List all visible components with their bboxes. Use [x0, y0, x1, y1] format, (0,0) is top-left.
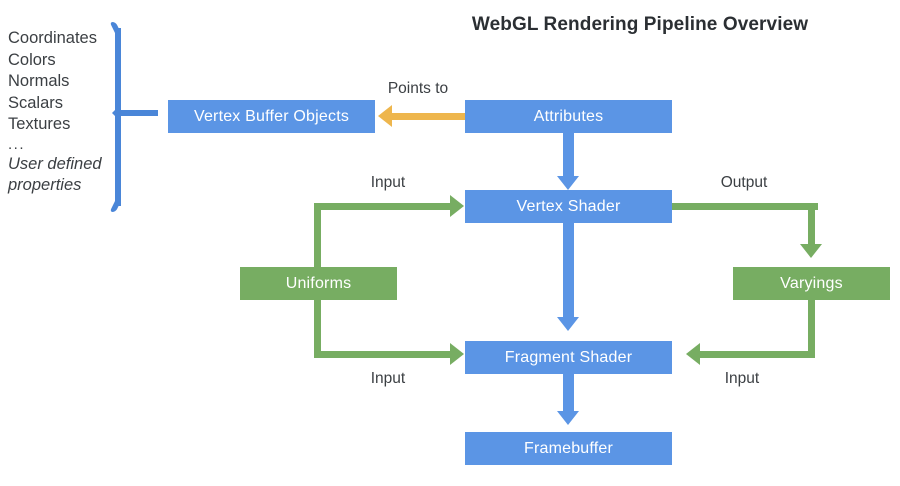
node-label-fragment-shader: Fragment Shader: [505, 349, 633, 367]
node-framebuffer[interactable]: Framebuffer: [465, 432, 672, 465]
edge-label-uniforms-to-vertex-shader-input: Input: [338, 174, 438, 192]
edge-label-points-to: Points to: [368, 80, 468, 98]
legend-bracket: [112, 22, 126, 212]
node-label-uniforms: Uniforms: [286, 275, 352, 293]
node-label-varyings: Varyings: [780, 275, 843, 293]
edge-uniforms-to-fragment-shader-horizontal: [314, 351, 451, 358]
legend-line-ellipsis: ...: [8, 136, 120, 154]
edge-uniforms-to-vertex-shader-vertical: [314, 203, 321, 268]
node-attributes[interactable]: Attributes: [465, 100, 672, 133]
bracket-tab: [116, 110, 158, 116]
edge-uniforms-to-vertex-shader-horizontal: [314, 203, 451, 210]
legend-line-colors: Colors: [8, 50, 120, 72]
edge-varyings-to-fragment-shader-horizontal: [700, 351, 815, 358]
node-label-vertex-shader: Vertex Shader: [517, 198, 621, 216]
edge-uniforms-to-fragment-shader-vertical: [314, 300, 321, 358]
edge-vertex-shader-to-varyings-arrowhead-icon: [800, 244, 822, 258]
edge-fragment-shader-to-framebuffer-arrowhead-icon: [557, 411, 579, 425]
node-vertex-buffer-objects[interactable]: Vertex Buffer Objects: [168, 100, 375, 133]
edge-vertex-shader-to-fragment-shader-shaft: [563, 223, 574, 318]
edge-varyings-to-fragment-shader-vertical: [808, 300, 815, 358]
legend-line-normals: Normals: [8, 71, 120, 93]
node-vertex-shader[interactable]: Vertex Shader: [465, 190, 672, 223]
node-fragment-shader[interactable]: Fragment Shader: [465, 341, 672, 374]
edge-fragment-shader-to-framebuffer-shaft: [563, 374, 574, 412]
edge-attributes-to-vbo-shaft: [392, 113, 465, 120]
edge-label-output: Output: [694, 174, 794, 192]
legend-line-textures: Textures: [8, 114, 120, 136]
legend-line-coordinates: Coordinates: [8, 28, 120, 50]
edge-label-varyings-to-fragment-shader-input: Input: [692, 370, 792, 388]
vbo-contents-legend: Coordinates Colors Normals Scalars Textu…: [8, 28, 120, 197]
bracket-nib-icon: [112, 107, 118, 119]
edge-vertex-shader-to-varyings-horizontal: [672, 203, 818, 210]
edge-uniforms-to-fragment-shader-arrowhead-icon: [450, 343, 464, 365]
node-label-framebuffer: Framebuffer: [524, 440, 613, 458]
edge-vertex-shader-to-fragment-shader-arrowhead-icon: [557, 317, 579, 331]
edge-uniforms-to-vertex-shader-arrowhead-icon: [450, 195, 464, 217]
edge-varyings-to-fragment-shader-arrowhead-icon: [686, 343, 700, 365]
edge-vertex-shader-to-varyings-vertical: [808, 203, 815, 245]
legend-line-scalars: Scalars: [8, 93, 120, 115]
legend-line-user-defined: User defined: [8, 154, 120, 176]
node-uniforms[interactable]: Uniforms: [240, 267, 397, 300]
node-label-attributes: Attributes: [534, 108, 604, 126]
edge-attributes-to-vbo-arrowhead-icon: [378, 105, 392, 127]
edge-label-uniforms-to-fragment-shader-input: Input: [338, 370, 438, 388]
page-title: WebGL Rendering Pipeline Overview: [400, 14, 880, 36]
bracket-cap-bottom: [110, 201, 121, 212]
node-label-vertex-buffer-objects: Vertex Buffer Objects: [194, 108, 349, 126]
diagram-canvas: WebGL Rendering Pipeline Overview Coordi…: [0, 0, 900, 486]
legend-line-properties: properties: [8, 175, 120, 197]
edge-attributes-to-vertex-shader-arrowhead-icon: [557, 176, 579, 190]
node-varyings[interactable]: Varyings: [733, 267, 890, 300]
edge-attributes-to-vertex-shader-shaft: [563, 133, 574, 177]
